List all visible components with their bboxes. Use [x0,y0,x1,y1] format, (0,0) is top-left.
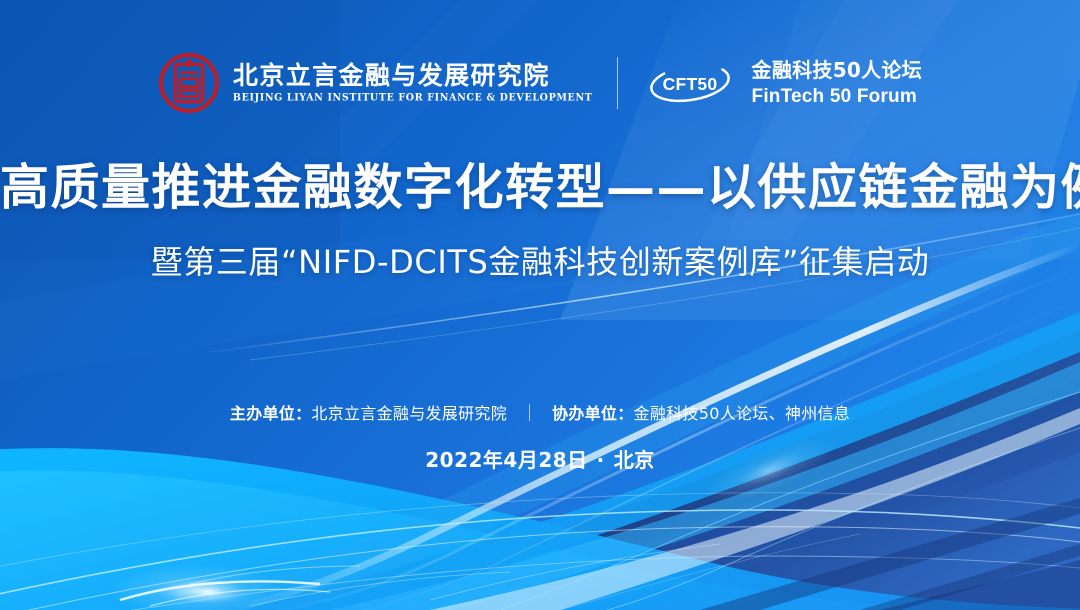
forum-name-en: FinTech 50 Forum [752,87,923,106]
cft50-mark-icon: CFT50 [642,58,738,108]
logo-bar: 北京立言金融与发展研究院 BEIJING LIYAN INSTITUTE FOR… [0,52,1080,114]
organizer-line: 主办单位：北京立言金融与发展研究院 协办单位：金融科技50人论坛、神州信息 [0,400,1080,424]
event-date: 2022年4月28日 [425,448,587,472]
host-organizer: 主办单位：北京立言金融与发展研究院 [230,400,507,424]
conference-poster: 北京立言金融与发展研究院 BEIJING LIYAN INSTITUTE FOR… [0,0,1080,610]
institute-logo: 北京立言金融与发展研究院 BEIJING LIYAN INSTITUTE FOR… [158,52,593,114]
sub-title: 暨第三届“NIFD-DCITS金融科技创新案例库”征集启动 [0,243,1080,281]
svg-text:CFT50: CFT50 [662,74,717,94]
event-location: 北京 [614,448,655,472]
cft50-logo: CFT50 金融科技50人论坛 FinTech 50 Forum [642,58,923,108]
forum-name-cn: 金融科技50人论坛 [752,60,923,80]
co-organizer: 协办单位：金融科技50人论坛、神州信息 [552,400,850,424]
institute-name-en: BEIJING LIYAN INSTITUTE FOR FINANCE & DE… [233,93,593,103]
logo-divider [617,57,618,109]
main-title: 高质量推进金融数字化转型——以供应链金融为例 [0,160,1080,215]
co-organizer-label: 协办单位： [552,404,634,423]
host-organizer-value: 北京立言金融与发展研究院 [311,404,507,423]
institute-name-cn: 北京立言金融与发展研究院 [233,63,593,88]
event-separator: · [597,448,605,472]
event-date-location: 2022年4月28日·北京 [0,444,1080,473]
host-organizer-label: 主办单位： [230,404,312,423]
co-organizer-value: 金融科技50人论坛、神州信息 [634,404,851,423]
organizer-separator [529,404,530,421]
institute-seal-icon [158,52,220,114]
